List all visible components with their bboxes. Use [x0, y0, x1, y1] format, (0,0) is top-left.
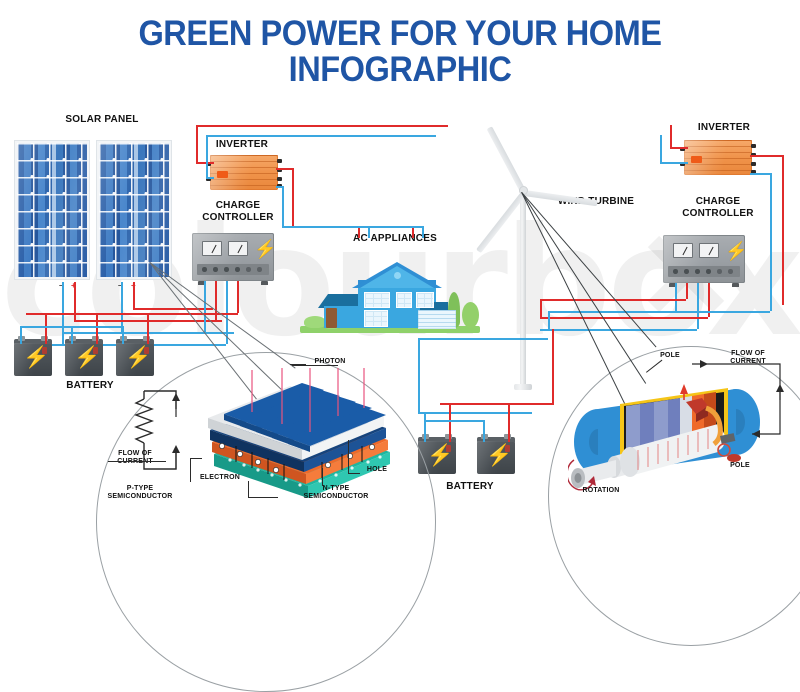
- inverter-left-label: INVERTER: [196, 139, 288, 151]
- wire-cc-left-bus: [26, 313, 238, 315]
- wire-inv-right-out-blue: [750, 173, 772, 175]
- wire-panel2-positive-link: [133, 308, 213, 310]
- flow-of-current-gen-l1: FLOW OF: [731, 350, 765, 357]
- wire-inv-right-out-red-v: [782, 155, 784, 305]
- wire-cc-left-p1: [204, 281, 206, 332]
- charge-controller-left: ⚡: [192, 233, 274, 281]
- wire-center-bat-blue-v: [418, 338, 420, 412]
- battery-left-1: ⚡: [14, 343, 52, 376]
- house-illustration: [300, 250, 480, 340]
- wire-panel2-negative: [121, 282, 123, 332]
- electron-label: ELECTRON: [192, 474, 248, 482]
- wind-turbine: [470, 140, 580, 390]
- solar-panel-1: [14, 140, 90, 280]
- n-type-l1: N-TYPE: [323, 485, 350, 492]
- rotation-label: ROTATION: [572, 487, 630, 495]
- wire-inv-left-out-red-v: [292, 168, 294, 226]
- p-type-semiconductor-label: P-TYPE SEMICONDUCTOR: [92, 485, 188, 501]
- cc-left-label-l1: CHARGE: [216, 200, 261, 211]
- title-line-1: GREEN POWER FOR YOUR HOME: [28, 16, 772, 52]
- cc-left-gauge-2: [228, 241, 248, 256]
- cc-right-bolt-icon: ⚡: [725, 242, 747, 260]
- cc-right-gauge-2: [699, 243, 719, 258]
- n-type-semiconductor-label: N-TYPE SEMICONDUCTOR: [288, 485, 384, 501]
- wire-inv-left-blue-top: [206, 135, 436, 137]
- wire-inv-left-top: [196, 125, 448, 127]
- wire-inv-right-out-blue-v: [770, 173, 772, 311]
- cc-right-gauge-1: [673, 243, 693, 258]
- wire-center-bat-red-v: [552, 329, 554, 403]
- inverter-right: [684, 140, 752, 175]
- wire-inv-left-in-red: [196, 162, 214, 164]
- flow-of-current-solar-l1: FLOW OF: [118, 450, 152, 457]
- solar-panel-label: SOLAR PANEL: [52, 114, 152, 126]
- turbine-blade-3: [476, 191, 526, 253]
- inverter-right-led: [691, 156, 702, 163]
- pole-bottom-label: POLE: [720, 462, 760, 470]
- wire-inv-right-in-red: [670, 147, 688, 149]
- wire-center-bat-red-h: [440, 403, 554, 405]
- page-title: GREEN POWER FOR YOUR HOME INFOGRAPHIC: [0, 16, 800, 87]
- wire-inv-left-in-blue: [206, 177, 214, 179]
- p-type-l2: SEMICONDUCTOR: [107, 493, 172, 500]
- charge-controller-right-label: CHARGE CONTROLLER: [666, 196, 770, 219]
- wire-inv-right-in-blue: [660, 162, 688, 164]
- battery-left-3: ⚡: [116, 343, 154, 376]
- pole-top-label: POLE: [650, 352, 690, 360]
- flow-of-current-label-solar: FLOW OF CURRENT: [102, 450, 168, 466]
- roof-vent-icon: [394, 272, 401, 279]
- cc-left-gauge-1: [202, 241, 222, 256]
- inverter-right-label: INVERTER: [678, 122, 770, 134]
- battery-center-2: ⚡: [477, 441, 515, 474]
- current-flow-bracket: [688, 358, 788, 444]
- p-type-l1: P-TYPE: [127, 485, 153, 492]
- ac-appliances-label: AC APPLIANCES: [340, 233, 450, 245]
- cc-right-label-l2: CONTROLLER: [682, 208, 753, 219]
- wire-panel2-positive: [133, 282, 135, 308]
- wire-inv-right-out-red: [750, 155, 784, 157]
- cc-right-label-l1: CHARGE: [696, 196, 741, 207]
- front-door: [326, 308, 337, 328]
- inverter-left-led: [217, 171, 228, 178]
- turbine-blade-1: [487, 126, 527, 194]
- wire-inv-left-out-blue: [276, 186, 284, 188]
- turbine-blade-2: [524, 190, 598, 206]
- wire-inv-left-blue-down: [206, 135, 208, 177]
- inverter-left: [210, 155, 278, 190]
- infographic-canvas: colourbox GREEN POWER FOR YOUR HOME INFO…: [0, 0, 800, 533]
- charge-controller-right: ⚡: [663, 235, 745, 283]
- wire-inv-right-in-red-v: [670, 125, 672, 149]
- cc-left-label-l2: CONTROLLER: [202, 212, 273, 223]
- wire-inv-left-top-down: [196, 125, 198, 162]
- cc-left-bolt-icon: ⚡: [254, 240, 276, 258]
- hole-label: HOLE: [356, 466, 398, 474]
- wire-center-bat-blue-h: [418, 412, 532, 414]
- wire-cc-left-p4: [237, 281, 239, 313]
- charge-controller-left-label: CHARGE CONTROLLER: [186, 200, 290, 223]
- resistor-circuit-symbol: [126, 383, 186, 483]
- battery-left-label: BATTERY: [44, 380, 136, 392]
- wire-inv-right-in-blue-v: [660, 135, 662, 164]
- solar-panel-2: [96, 140, 172, 280]
- title-line-2: INFOGRAPHIC: [28, 52, 772, 88]
- battery-center-label: BATTERY: [424, 481, 516, 493]
- battery-left-2: ⚡: [65, 343, 103, 376]
- n-type-l2: SEMICONDUCTOR: [303, 493, 368, 500]
